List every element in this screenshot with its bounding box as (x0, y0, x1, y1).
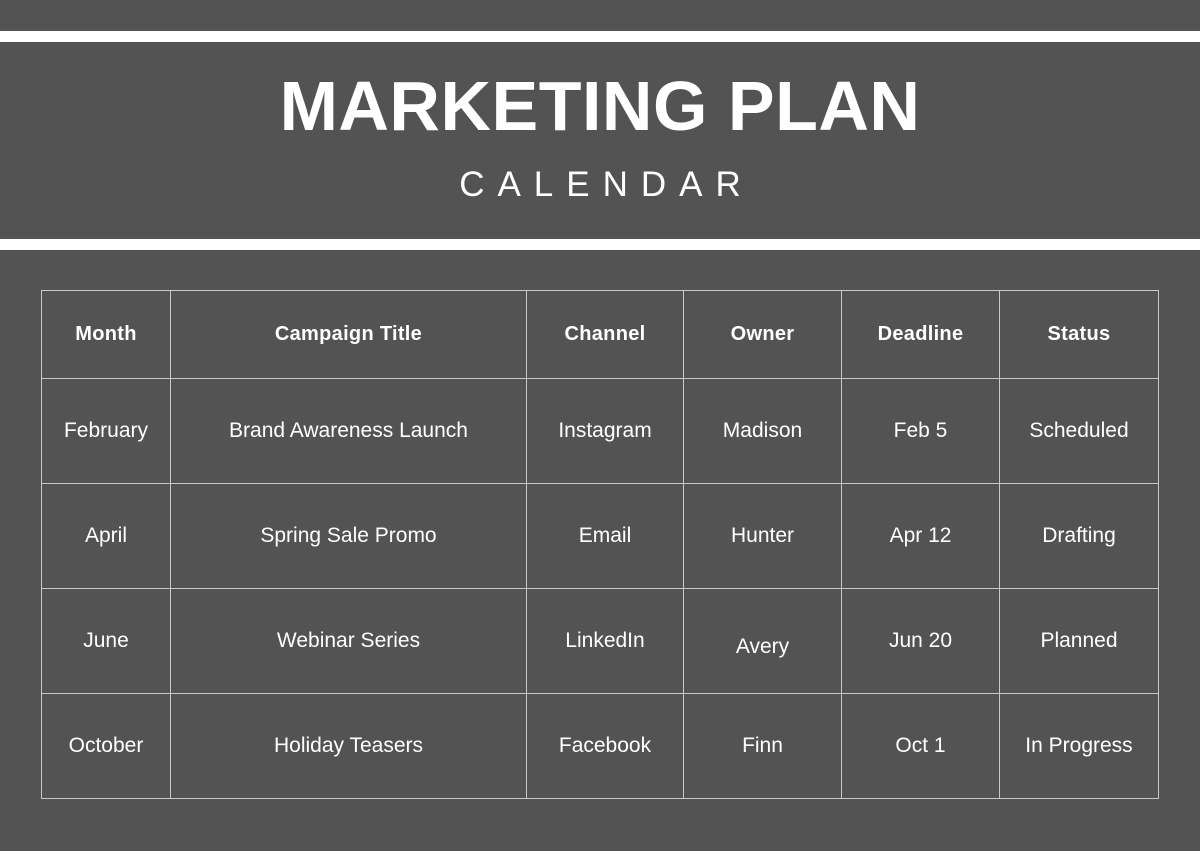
table-row[interactable]: April Spring Sale Promo Email Hunter Apr… (42, 484, 1159, 589)
cell-month[interactable]: June (42, 589, 171, 694)
cell-month[interactable]: October (42, 694, 171, 799)
cell-channel[interactable]: Facebook (527, 694, 684, 799)
table-row[interactable]: June Webinar Series LinkedIn Avery Jun 2… (42, 589, 1159, 694)
cell-channel[interactable]: Email (527, 484, 684, 589)
table-header: Month Campaign Title Channel Owner Deadl… (42, 291, 1159, 379)
cell-owner[interactable]: Hunter (684, 484, 842, 589)
table-body: February Brand Awareness Launch Instagra… (42, 379, 1159, 799)
cell-status[interactable]: Drafting (1000, 484, 1159, 589)
page-subtitle: CALENDAR (446, 167, 754, 202)
cell-deadline[interactable]: Feb 5 (842, 379, 1000, 484)
cell-deadline[interactable]: Oct 1 (842, 694, 1000, 799)
header-top-stripe (0, 31, 1200, 42)
page-title: MARKETING PLAN (280, 71, 921, 141)
cell-owner-text: Avery (736, 633, 789, 661)
table-header-row: Month Campaign Title Channel Owner Deadl… (42, 291, 1159, 379)
cell-channel[interactable]: Instagram (527, 379, 684, 484)
cell-campaign[interactable]: Spring Sale Promo (171, 484, 527, 589)
table-row[interactable]: February Brand Awareness Launch Instagra… (42, 379, 1159, 484)
column-header-channel[interactable]: Channel (527, 291, 684, 379)
column-header-status[interactable]: Status (1000, 291, 1159, 379)
cell-campaign[interactable]: Brand Awareness Launch (171, 379, 527, 484)
cell-month[interactable]: April (42, 484, 171, 589)
column-header-campaign[interactable]: Campaign Title (171, 291, 527, 379)
cell-owner[interactable]: Avery (684, 589, 842, 694)
cell-deadline[interactable]: Apr 12 (842, 484, 1000, 589)
cell-campaign[interactable]: Webinar Series (171, 589, 527, 694)
cell-month[interactable]: February (42, 379, 171, 484)
cell-owner[interactable]: Madison (684, 379, 842, 484)
column-header-month[interactable]: Month (42, 291, 171, 379)
table-row[interactable]: October Holiday Teasers Facebook Finn Oc… (42, 694, 1159, 799)
cell-owner[interactable]: Finn (684, 694, 842, 799)
header-bottom-stripe (0, 239, 1200, 250)
cell-deadline[interactable]: Jun 20 (842, 589, 1000, 694)
cell-status[interactable]: In Progress (1000, 694, 1159, 799)
column-header-deadline[interactable]: Deadline (842, 291, 1000, 379)
calendar-table-container: Month Campaign Title Channel Owner Deadl… (41, 290, 1158, 799)
header-band: MARKETING PLAN CALENDAR (0, 42, 1200, 239)
cell-status[interactable]: Planned (1000, 589, 1159, 694)
cell-campaign[interactable]: Holiday Teasers (171, 694, 527, 799)
cell-status[interactable]: Scheduled (1000, 379, 1159, 484)
cell-channel[interactable]: LinkedIn (527, 589, 684, 694)
column-header-owner[interactable]: Owner (684, 291, 842, 379)
calendar-table: Month Campaign Title Channel Owner Deadl… (41, 290, 1159, 799)
marketing-plan-calendar-page: MARKETING PLAN CALENDAR Month Campaign T… (0, 0, 1200, 851)
